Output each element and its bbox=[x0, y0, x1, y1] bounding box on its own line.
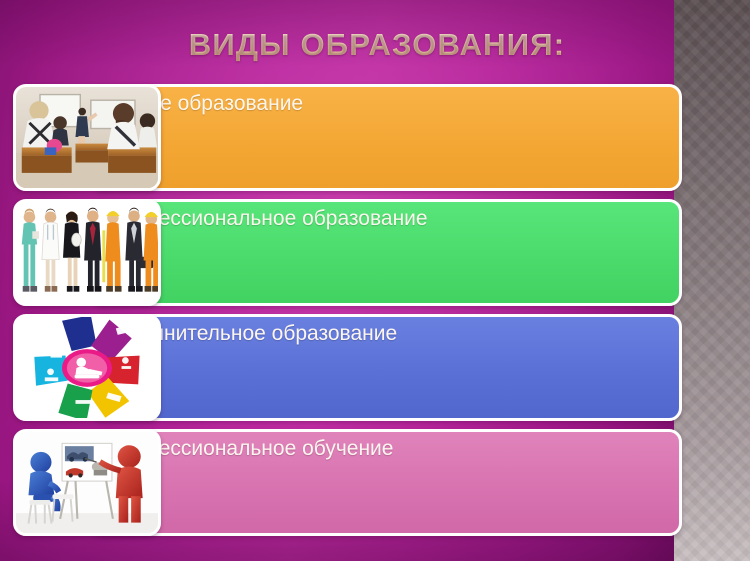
row-label: Профессиональное обучение bbox=[103, 437, 669, 461]
row-label: Дополнительное образование bbox=[103, 322, 669, 346]
classroom-photo[interactable] bbox=[13, 84, 161, 191]
professionals-lineup-photo[interactable] bbox=[13, 199, 161, 306]
slide-canvas: ВИДЫ ОБРАЗОВАНИЯ: Общее образование bbox=[0, 0, 750, 561]
slide-background-gray-panel bbox=[674, 0, 750, 561]
page-title: ВИДЫ ОБРАЗОВАНИЯ: bbox=[112, 27, 642, 63]
row-label: Профессиональное образование bbox=[103, 207, 669, 231]
row-label: Общее образование bbox=[103, 92, 669, 116]
row-bar-supplementary-education[interactable]: Дополнительное образование bbox=[90, 314, 682, 421]
row-bar-general-education[interactable]: Общее образование bbox=[90, 84, 682, 191]
row-bar-vocational-training[interactable]: Профессиональное обучение bbox=[90, 429, 682, 536]
row-bar-vocational-education[interactable]: Профессиональное образование bbox=[90, 199, 682, 306]
activity-pinwheel-icon[interactable] bbox=[13, 314, 161, 421]
training-session-illustration[interactable] bbox=[13, 429, 161, 536]
